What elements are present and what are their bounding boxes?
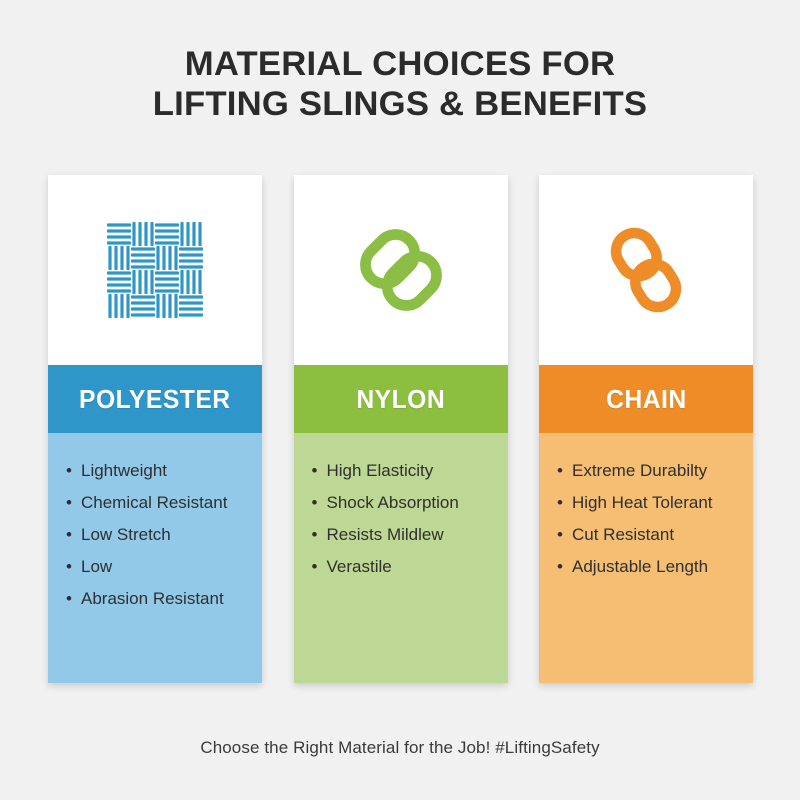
material-card-nylon[interactable]: NYLON High ElasticityShock AbsorptionRes… bbox=[294, 175, 508, 683]
material-card-polyester[interactable]: POLYESTER LightweightChemical ResistantL… bbox=[48, 175, 262, 683]
benefit-item: High Elasticity bbox=[310, 459, 494, 482]
benefit-item: Extreme Durabilty bbox=[555, 459, 739, 482]
card-icon-area-nylon bbox=[294, 175, 508, 365]
card-header-chain: CHAIN bbox=[539, 365, 753, 433]
card-body-polyester: LightweightChemical ResistantLow Stretch… bbox=[48, 433, 262, 683]
benefit-item: Verastile bbox=[310, 555, 494, 578]
title-line-1: MATERIAL CHOICES FOR bbox=[0, 44, 800, 84]
page-title: MATERIAL CHOICES FOR LIFTING SLINGS & BE… bbox=[0, 44, 800, 124]
card-title-chain: CHAIN bbox=[606, 384, 687, 415]
benefit-item: Cut Resistant bbox=[555, 523, 739, 546]
card-icon-area-chain bbox=[539, 175, 753, 365]
benefit-item: Low Stretch bbox=[64, 523, 248, 546]
benefit-item: Resists Mildlew bbox=[310, 523, 494, 546]
material-card-list: POLYESTER LightweightChemical ResistantL… bbox=[48, 175, 753, 683]
benefit-item: Abrasion Resistant bbox=[64, 587, 248, 610]
footer-text: Choose the Right Material for the Job! #… bbox=[200, 738, 599, 757]
card-icon-area-polyester bbox=[48, 175, 262, 365]
benefit-item: Shock Absorption bbox=[310, 491, 494, 514]
title-line-2: LIFTING SLINGS & BENEFITS bbox=[0, 84, 800, 124]
card-title-polyester: POLYESTER bbox=[79, 384, 231, 415]
benefit-item: High Heat Tolerant bbox=[555, 491, 739, 514]
card-header-nylon: NYLON bbox=[294, 365, 508, 433]
chain-links-icon bbox=[598, 222, 694, 318]
benefit-item: Chemical Resistant bbox=[64, 491, 248, 514]
woven-fabric-icon bbox=[107, 222, 203, 318]
material-card-chain[interactable]: CHAIN Extreme DurabiltyHigh Heat Toleran… bbox=[539, 175, 753, 683]
infographic-canvas: MATERIAL CHOICES FOR LIFTING SLINGS & BE… bbox=[0, 0, 800, 800]
benefit-item: Low bbox=[64, 555, 248, 578]
benefit-list-nylon: High ElasticityShock AbsorptionResists M… bbox=[310, 459, 494, 578]
benefit-item: Adjustable Length bbox=[555, 555, 739, 578]
card-header-polyester: POLYESTER bbox=[48, 365, 262, 433]
card-body-nylon: High ElasticityShock AbsorptionResists M… bbox=[294, 433, 508, 683]
interlocked-loops-icon bbox=[353, 222, 449, 318]
card-body-chain: Extreme DurabiltyHigh Heat TolerantCut R… bbox=[539, 433, 753, 683]
footer: Choose the Right Material for the Job! #… bbox=[0, 738, 800, 758]
benefit-list-chain: Extreme DurabiltyHigh Heat TolerantCut R… bbox=[555, 459, 739, 578]
benefit-item: Lightweight bbox=[64, 459, 248, 482]
card-title-nylon: NYLON bbox=[356, 384, 445, 415]
benefit-list-polyester: LightweightChemical ResistantLow Stretch… bbox=[64, 459, 248, 610]
